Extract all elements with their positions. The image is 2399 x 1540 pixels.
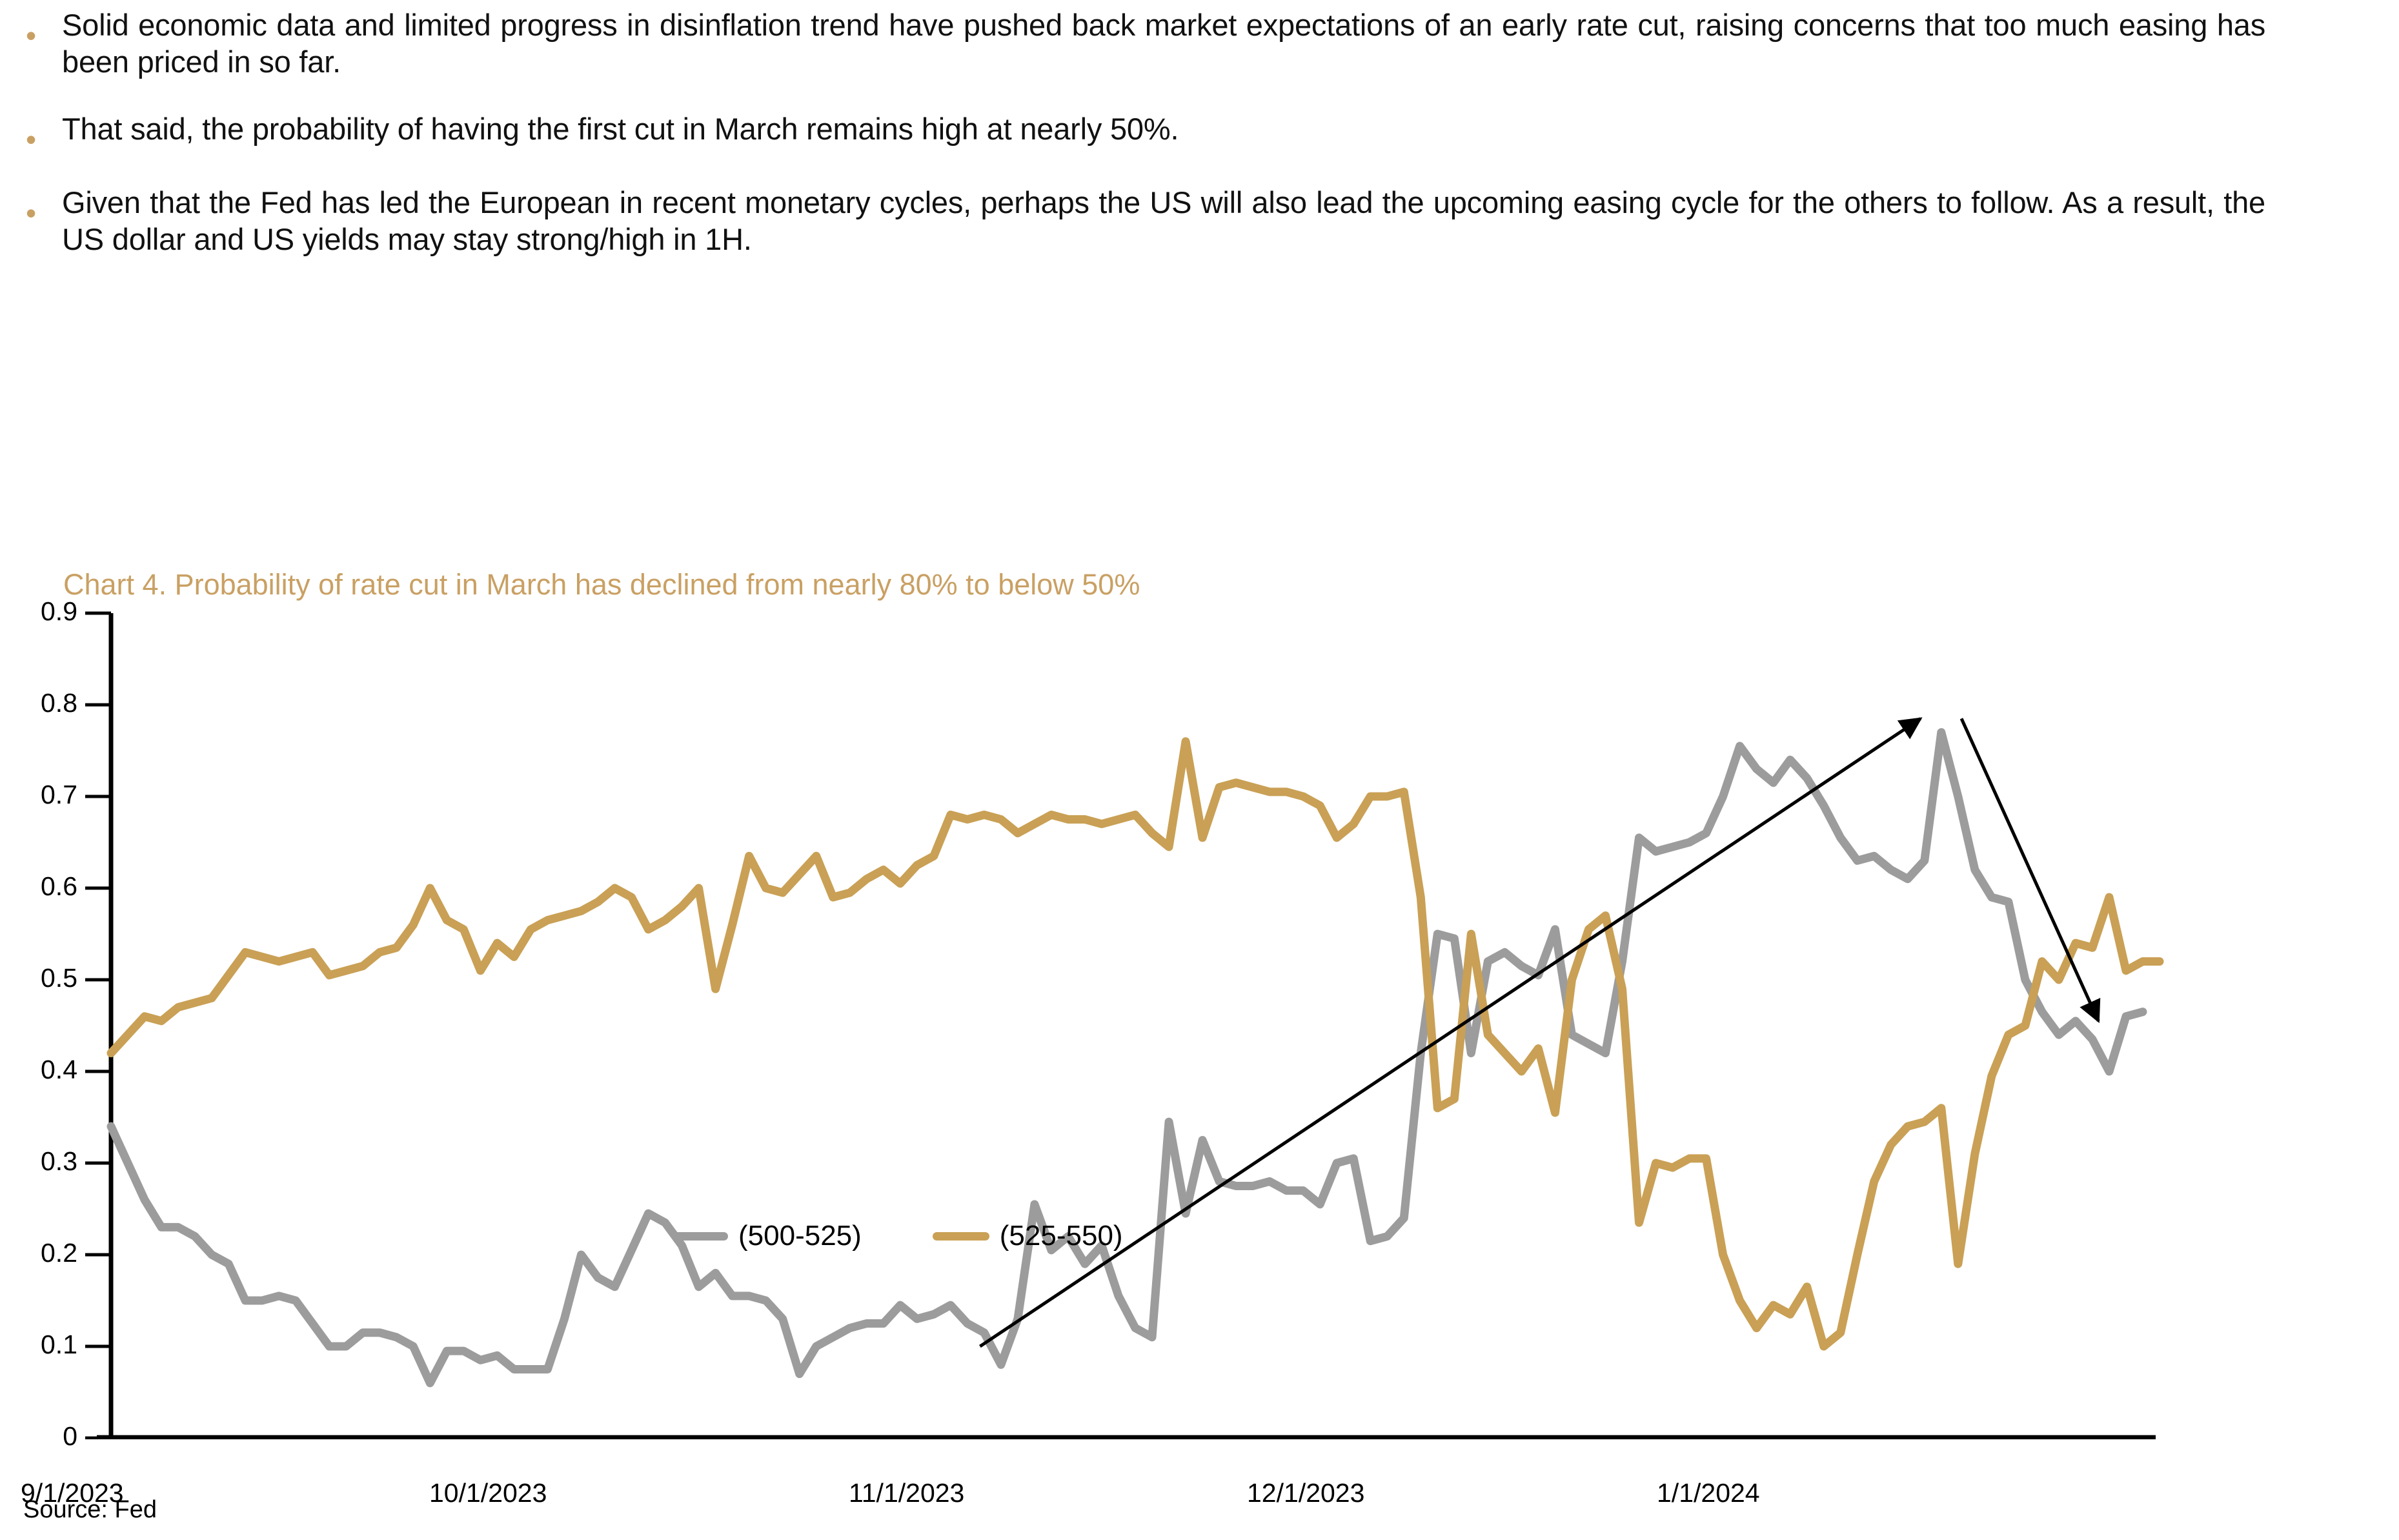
bullet-marker-icon: • [26, 110, 62, 154]
bullet-list: • Solid economic data and limited progre… [26, 6, 2265, 287]
bullet-marker-icon: • [26, 184, 62, 228]
chart-source: Source: Fed [23, 1496, 157, 1524]
bullet-text: Given that the Fed has led the European … [62, 184, 2265, 258]
legend-item-500-525[interactable]: (500-525) [671, 1220, 862, 1252]
chart-series-layer [111, 733, 2160, 1383]
bullet-item: • Given that the Fed has led the Europea… [26, 184, 2265, 258]
plot-area: 00.10.20.30.40.50.60.70.80.9 9/1/202310/… [0, 607, 2259, 1439]
y-axis-tick-label: 0 [6, 1421, 77, 1452]
bullet-marker-icon: • [26, 6, 62, 50]
y-axis-tick-label: 0.8 [6, 688, 77, 718]
chart-title: Chart 4. Probability of rate cut in Marc… [63, 568, 1140, 602]
y-axis-tick-label: 0.4 [6, 1055, 77, 1085]
down-trend-arrow [1961, 718, 2098, 1021]
x-axis-tick-label: 10/1/2023 [429, 1478, 547, 1508]
chart-line-500-525 [111, 733, 2143, 1383]
legend-item-525-550[interactable]: (525-550) [933, 1220, 1123, 1252]
x-axis-tick-label: 1/1/2024 [1657, 1478, 1760, 1508]
bullet-text: Solid economic data and limited progress… [62, 6, 2265, 81]
legend-label: (500-525) [738, 1220, 862, 1252]
bullet-item: • Solid economic data and limited progre… [26, 6, 2265, 81]
x-axis-tick-label: 12/1/2023 [1247, 1478, 1364, 1508]
up-trend-arrow [980, 718, 1920, 1346]
bullet-item: • That said, the probability of having t… [26, 110, 2265, 154]
y-axis-tick-label: 0.5 [6, 963, 77, 993]
y-axis-tick-label: 0.3 [6, 1146, 77, 1177]
chart-line-525-550 [111, 742, 2160, 1346]
y-axis-tick-label: 0.2 [6, 1238, 77, 1268]
y-axis-tick-label: 0.7 [6, 780, 77, 810]
legend-swatch-gold [933, 1232, 989, 1241]
y-axis-tick-label: 0.6 [6, 871, 77, 902]
y-axis-tick-label: 0.9 [6, 596, 77, 627]
chart-legend: (500-525) (525-550) [671, 1220, 1123, 1252]
bullet-text: That said, the probability of having the… [62, 110, 2265, 147]
x-axis-tick-label: 11/1/2023 [849, 1478, 964, 1508]
legend-label: (525-550) [1000, 1220, 1123, 1252]
chart-svg [0, 607, 2259, 1439]
y-axis-tick-label: 0.1 [6, 1330, 77, 1360]
legend-swatch-gray [671, 1232, 728, 1241]
chart-container: Chart 4. Probability of rate cut in Marc… [0, 568, 2399, 1536]
